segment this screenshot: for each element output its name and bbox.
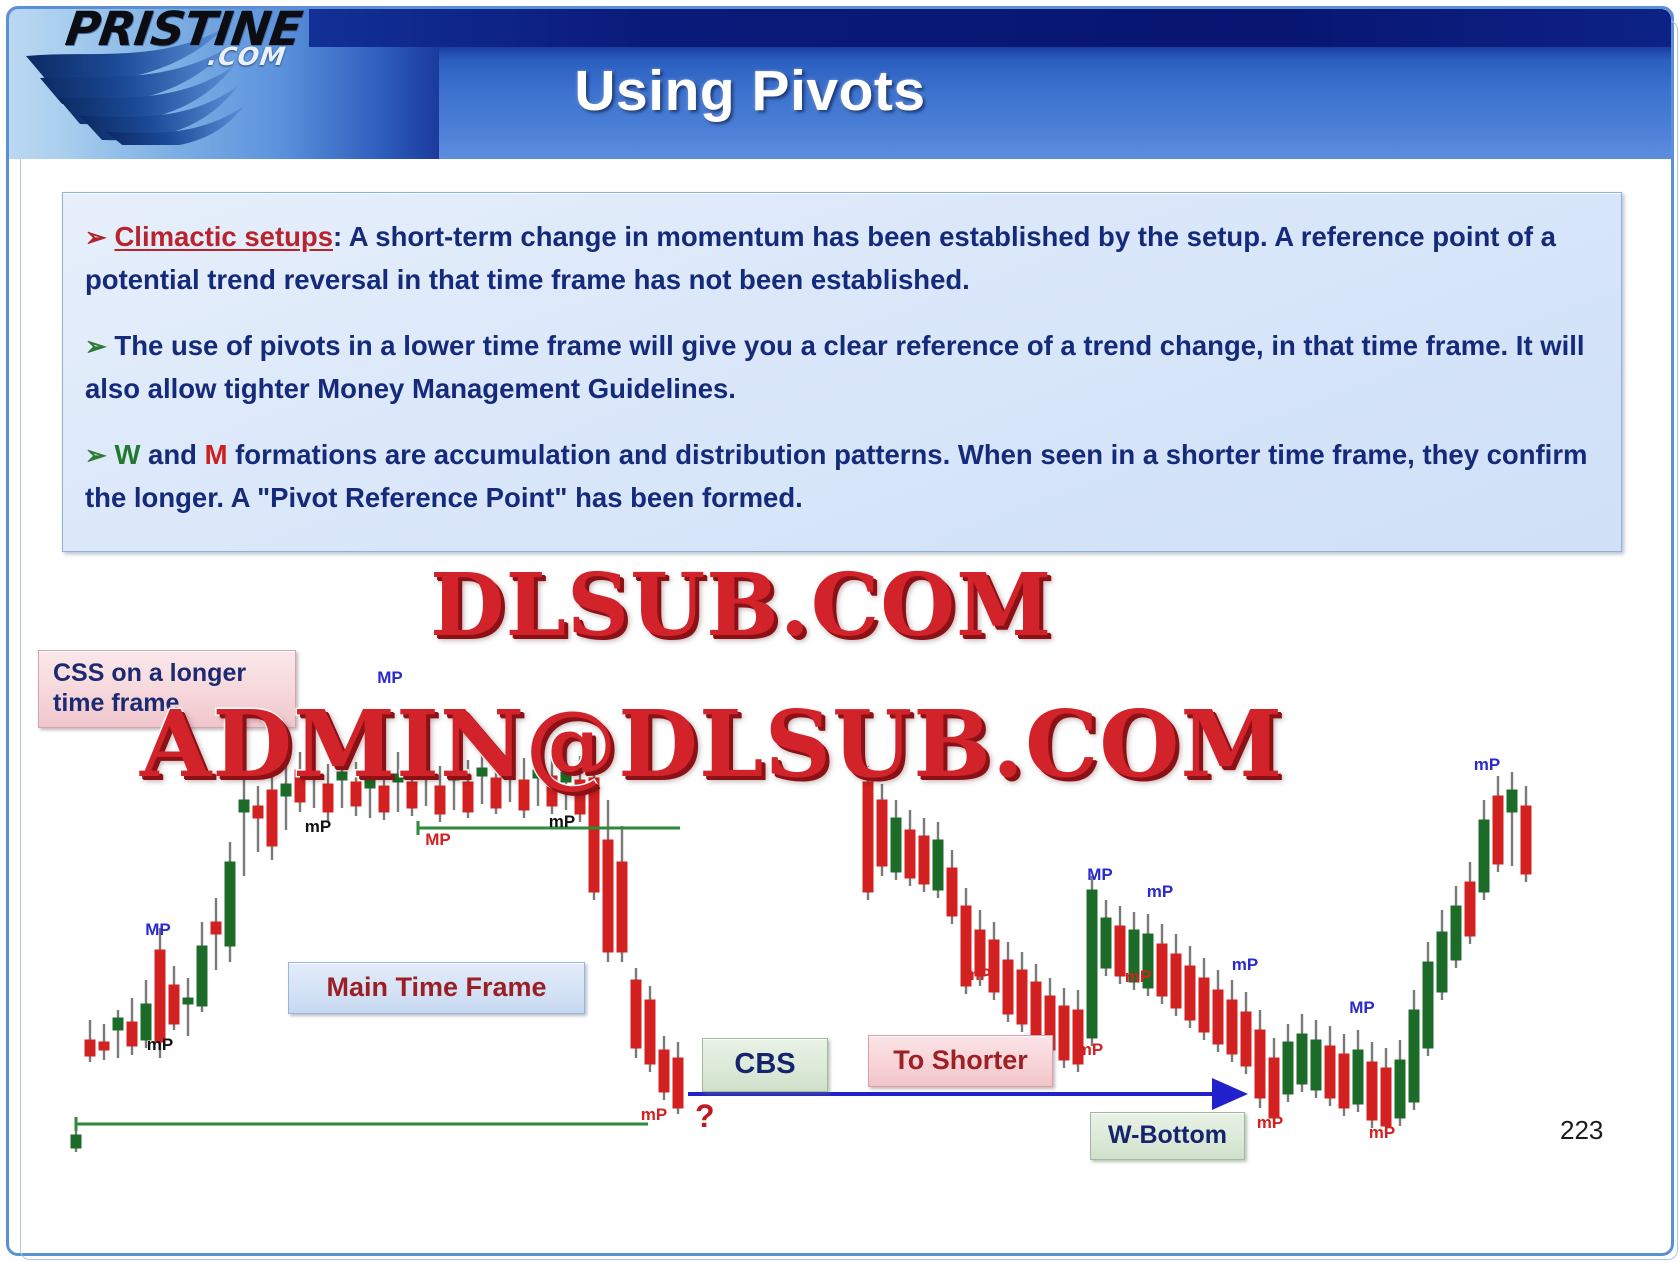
candle [113, 1010, 123, 1058]
candle [877, 784, 887, 876]
candle [253, 786, 263, 852]
candle [127, 998, 137, 1055]
label-to-shorter: To Shorter [868, 1035, 1053, 1087]
candle [989, 922, 999, 1000]
candle [379, 764, 389, 820]
pivot-label: MP [377, 668, 403, 687]
header-dark-top-strip [309, 9, 1671, 47]
bullet-arrow-icon: ➢ [85, 222, 107, 252]
content-text-card: ➢ Climactic setups: A short-term change … [62, 192, 1622, 552]
candle [673, 1042, 683, 1114]
page-number: 223 [1560, 1115, 1603, 1146]
candle [1297, 1014, 1307, 1092]
pivot-label: mP [641, 1105, 667, 1124]
paragraph-climactic-setups: ➢ Climactic setups: A short-term change … [85, 215, 1595, 302]
keyword-m: M [205, 439, 228, 470]
candle [1087, 876, 1097, 1046]
bullet-arrow-icon: ➢ [85, 440, 107, 470]
pivot-label: mP [965, 965, 991, 984]
candle [1493, 776, 1503, 872]
pivot-label: MP [1349, 998, 1375, 1017]
candle [603, 800, 613, 962]
candle [1227, 980, 1237, 1062]
candle [1311, 1020, 1321, 1098]
pivot-label: mP [1232, 955, 1258, 974]
candle [1521, 786, 1531, 882]
candle [891, 800, 901, 880]
candle [365, 758, 375, 818]
candle [1479, 800, 1489, 900]
candle [393, 752, 403, 812]
candle [1073, 990, 1083, 1072]
candle [1325, 1026, 1335, 1106]
candle [561, 748, 571, 810]
candle [947, 850, 957, 924]
candle [1395, 1040, 1405, 1126]
candle [919, 818, 929, 892]
candle [281, 766, 291, 830]
candle [295, 752, 305, 812]
pivot-label: mP [1077, 1040, 1103, 1059]
bullet-arrow-icon: ➢ [85, 331, 107, 361]
keyword-w: W [114, 439, 140, 470]
candle [309, 756, 319, 808]
candle [225, 842, 235, 962]
pivot-label: mP [1257, 1113, 1283, 1132]
candle [1423, 942, 1433, 1056]
candle [1101, 900, 1111, 976]
pivot-label: mP [1125, 967, 1151, 986]
label-question-mark: ? [695, 1098, 715, 1135]
candle [1339, 1034, 1349, 1116]
pivot-label: MP [425, 830, 451, 849]
label-cbs: CBS [702, 1038, 828, 1092]
candle [1381, 1048, 1391, 1134]
candle [1241, 992, 1251, 1074]
candle [99, 1024, 109, 1060]
paragraph-3-mid: and [140, 439, 204, 470]
candle [1171, 934, 1181, 1016]
candle [505, 744, 515, 802]
candle [645, 986, 655, 1072]
candle [1437, 910, 1447, 1000]
candle [239, 778, 249, 876]
paragraph-3-text: formations are accumulation and distribu… [85, 439, 1587, 513]
candle [1409, 990, 1419, 1110]
candle [519, 758, 529, 818]
candle [547, 752, 557, 814]
paragraph-w-m-formations: ➢ W and M formations are accumulation an… [85, 433, 1595, 520]
candle [337, 754, 347, 808]
candle [533, 750, 543, 806]
candle [323, 764, 333, 822]
candle [1199, 958, 1209, 1040]
candle [85, 1020, 95, 1062]
candle [183, 978, 193, 1036]
label-css-longer-timeframe: CSS on a longer time frame [38, 650, 296, 728]
candle [1255, 1010, 1265, 1108]
keyword-colon: : [333, 221, 342, 252]
paragraph-pivots-lower-timeframe: ➢ The use of pivots in a lower time fram… [85, 324, 1595, 411]
slide-root: PRISTINE .COM Using Pivots ➢ Climactic s… [0, 0, 1680, 1262]
label-w-bottom: W-Bottom [1090, 1112, 1245, 1160]
candle [631, 968, 641, 1058]
candle [1157, 924, 1167, 1004]
candle [477, 748, 487, 804]
candle [575, 756, 585, 822]
paragraph-2-text: The use of pivots in a lower time frame … [85, 330, 1585, 404]
candle [421, 748, 431, 806]
label-main-time-frame: Main Time Frame [288, 962, 585, 1014]
pivot-label: mP [147, 1035, 173, 1054]
candle [351, 762, 361, 816]
candle [463, 760, 473, 818]
candle [1507, 772, 1517, 866]
candle [211, 898, 221, 970]
candle [1283, 1024, 1293, 1102]
pivot-label: mP [1147, 882, 1173, 901]
pivot-label: mP [1474, 755, 1500, 774]
candle [1115, 906, 1125, 984]
page-title: Using Pivots [0, 58, 1680, 124]
pivot-label: MP [145, 920, 171, 939]
candle [1465, 862, 1475, 944]
candle [1059, 988, 1069, 1068]
candle [1031, 964, 1041, 1044]
keyword-climactic-setups: Climactic setups [114, 221, 333, 252]
candle [1003, 942, 1013, 1022]
candle [659, 1036, 669, 1100]
candle [1185, 946, 1195, 1028]
candle [267, 772, 277, 860]
pivot-label: mP [549, 812, 575, 831]
candle [863, 766, 873, 900]
candle [1367, 1042, 1377, 1128]
candle [169, 966, 179, 1030]
candle [1213, 970, 1223, 1052]
candle [933, 822, 943, 898]
candle [589, 752, 599, 900]
candle [449, 754, 459, 810]
candle [197, 922, 207, 1012]
pivot-label: mP [305, 817, 331, 836]
candle [435, 766, 445, 822]
candle [1451, 886, 1461, 968]
candle [905, 810, 915, 886]
candle [491, 756, 501, 814]
pivot-label: MP [1087, 865, 1113, 884]
candle [407, 760, 417, 816]
candle [1353, 1030, 1363, 1112]
candle [617, 826, 627, 962]
pivot-label: mP [1369, 1123, 1395, 1142]
candle [1017, 952, 1027, 1032]
